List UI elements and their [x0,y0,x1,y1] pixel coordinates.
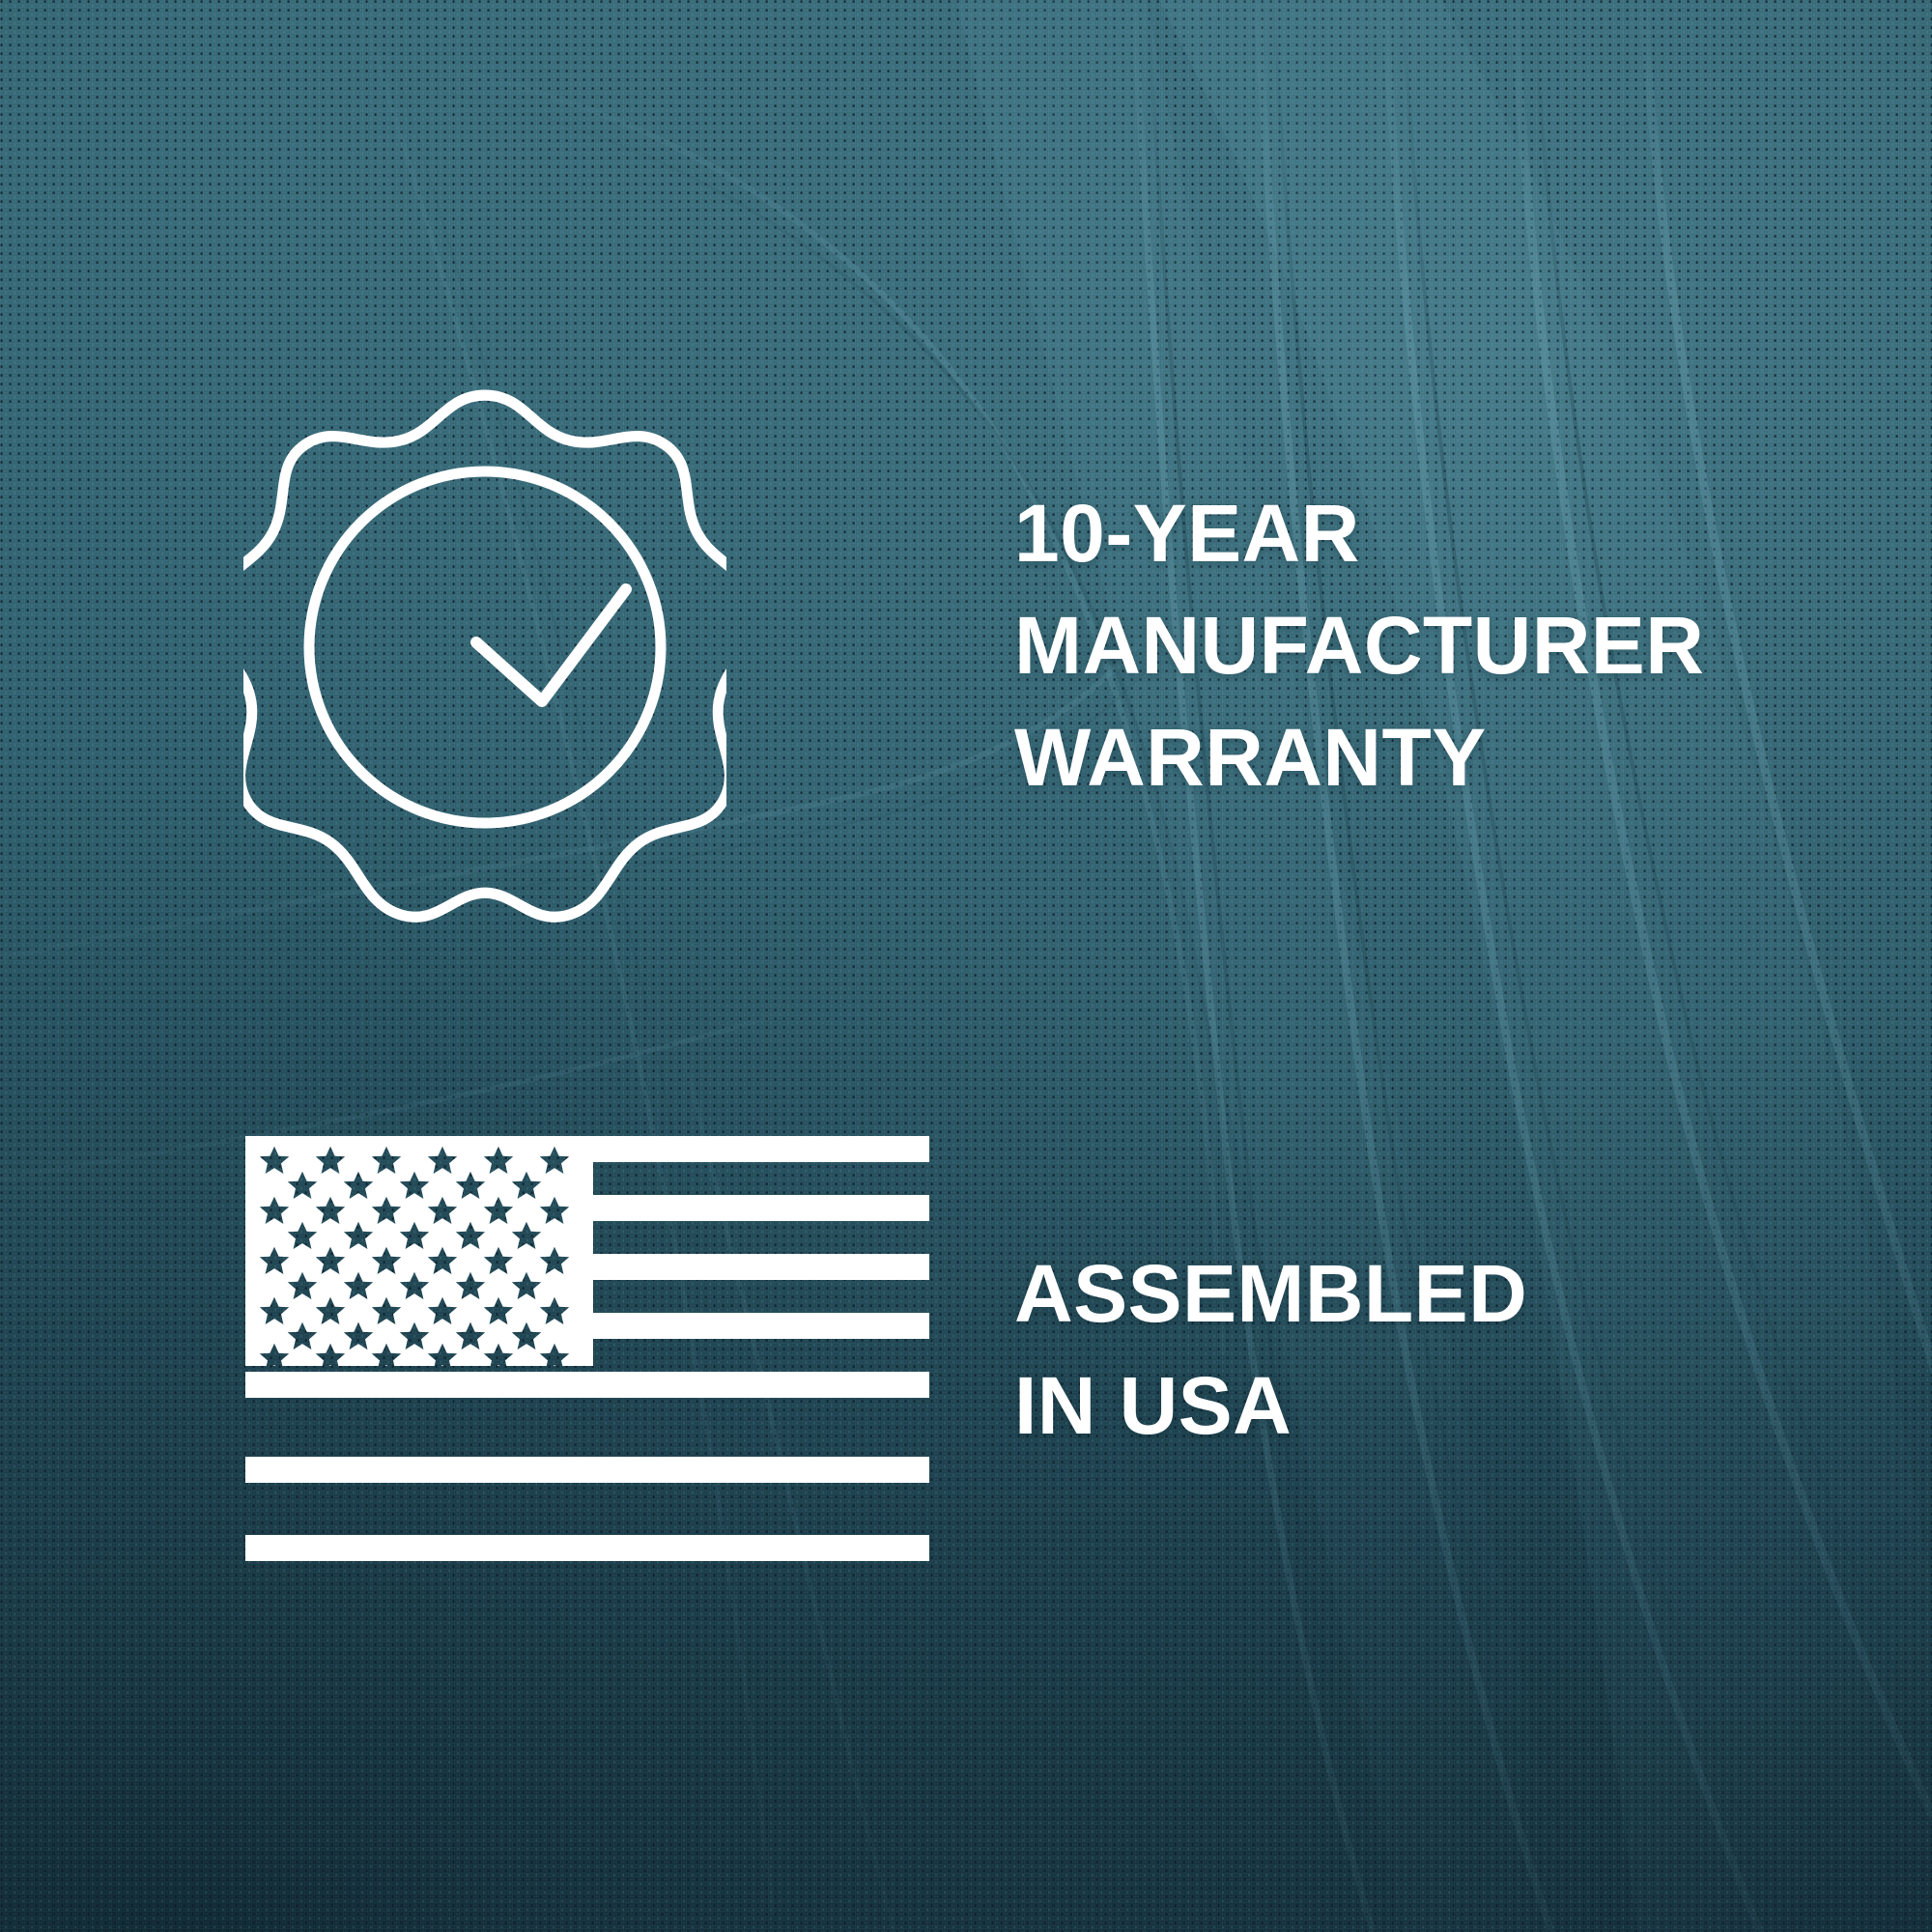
warranty-badge-check-icon [243,340,726,954]
feature-callout-graphic: 10-YEAR MANUFACTURER WARRANTY [0,0,1932,1932]
assembled-in-usa-label: ASSEMBLED IN USA [1014,1238,1855,1463]
warranty-label: 10-YEAR MANUFACTURER WARRANTY [1014,478,1855,814]
usa-flag-icon [245,1136,929,1561]
